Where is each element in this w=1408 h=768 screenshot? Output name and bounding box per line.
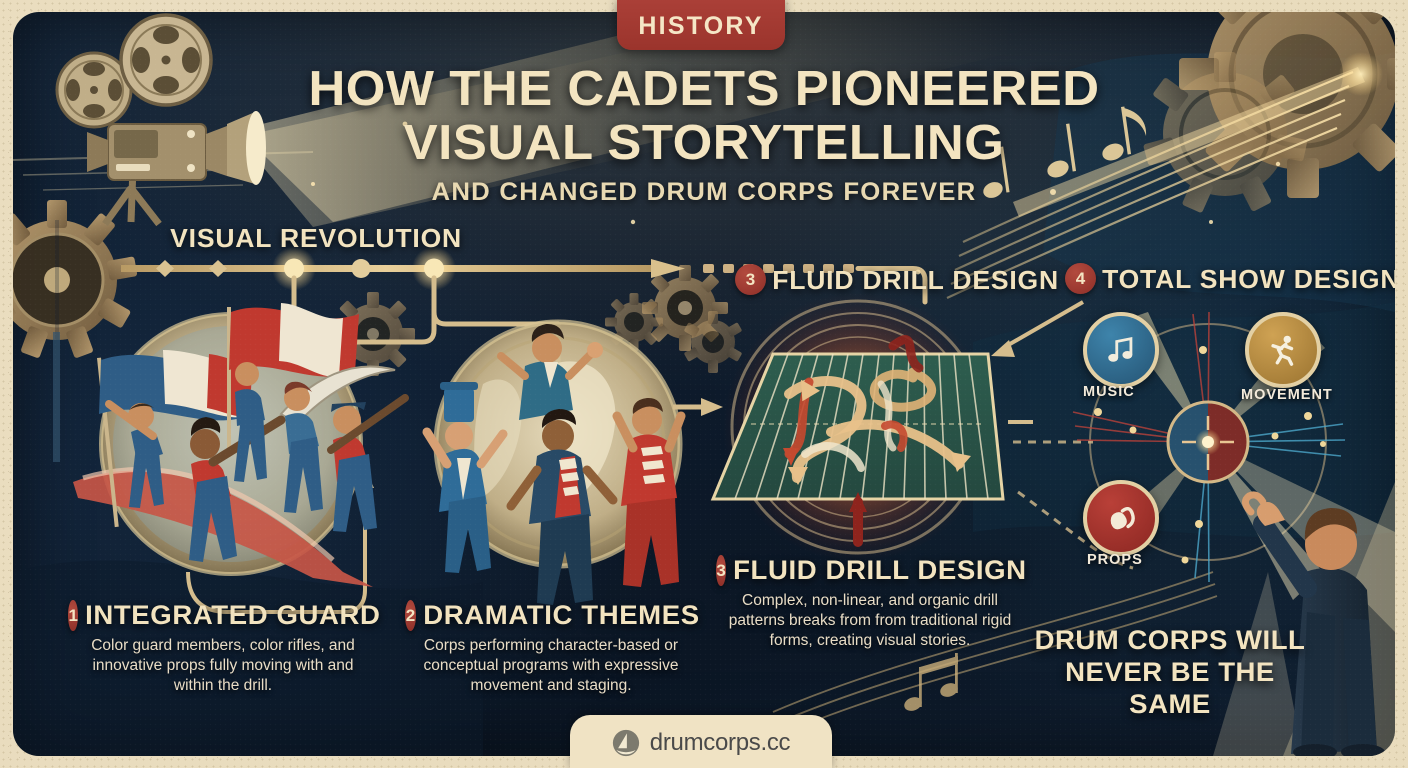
closing-line-1: DRUM CORPS WILL: [1022, 624, 1318, 656]
section-heading-visual-revolution: VISUAL REVOLUTION: [170, 223, 462, 254]
card-number-badge: 2: [405, 600, 416, 631]
card-number-badge: 3: [716, 555, 725, 586]
card-title: INTEGRATED GUARD: [85, 600, 380, 631]
section-heading-total-show-design: TOTAL SHOW DESIGN: [1102, 264, 1395, 295]
history-badge: HISTORY: [617, 0, 785, 50]
pillar-icon-music[interactable]: [1083, 312, 1159, 388]
badge-number-3-top: 3: [735, 264, 766, 295]
pillar-label-movement: MOVEMENT: [1241, 387, 1333, 403]
card-dramatic-themes: 2 DRAMATIC THEMES Corps performing chara…: [405, 600, 697, 696]
illustration-integrated-guard: [73, 303, 405, 587]
pillar-icon-props[interactable]: [1083, 480, 1159, 556]
closing-line-2: NEVER BE THE SAME: [1022, 656, 1318, 720]
pillar-icon-movement[interactable]: [1245, 312, 1321, 388]
pillar-label-music: MUSIC: [1083, 384, 1135, 400]
card-title: DRAMATIC THEMES: [423, 600, 699, 631]
card-fluid-drill-design: 3 FLUID DRILL DESIGN Complex, non-linear…: [727, 555, 1013, 651]
pillar-label-props: PROPS: [1087, 552, 1143, 568]
card-body: Color guard members, color rifles, and i…: [73, 636, 373, 696]
title-line-2: VISUAL STORYTELLING: [0, 116, 1408, 170]
title-line-1: HOW THE CADETS PIONEERED: [0, 62, 1408, 116]
illustration-dramatic-themes: [427, 322, 681, 605]
running-person-icon: [1266, 333, 1300, 367]
badge-number-4-top: 4: [1065, 263, 1096, 294]
section-heading-fluid-drill-design: FLUID DRILL DESIGN: [772, 265, 1059, 296]
card-integrated-guard: 1 INTEGRATED GUARD Color guard members, …: [73, 600, 373, 696]
history-badge-label: HISTORY: [638, 12, 763, 41]
drumcorps-sail-logo-icon: [612, 729, 640, 757]
gear-icon: [13, 200, 138, 359]
footer-site-name: drumcorps.cc: [650, 729, 790, 757]
footer-brand[interactable]: drumcorps.cc: [570, 715, 832, 768]
card-body: Complex, non-linear, and organic drill p…: [727, 591, 1013, 651]
card-body: Corps performing character-based or conc…: [405, 636, 697, 696]
title-subtitle: AND CHANGED DRUM CORPS FOREVER: [0, 178, 1408, 207]
props-icon: [1104, 501, 1138, 535]
card-title: FLUID DRILL DESIGN: [733, 555, 1027, 586]
infographic-root: VISUAL REVOLUTION 3 FLUID DRILL DESIGN 4…: [0, 0, 1408, 768]
music-note-icon: [1104, 333, 1138, 367]
closing-statement: DRUM CORPS WILL NEVER BE THE SAME: [1022, 624, 1318, 720]
title-block: HOW THE CADETS PIONEERED VISUAL STORYTEL…: [0, 62, 1408, 207]
card-number-badge: 1: [68, 600, 77, 631]
